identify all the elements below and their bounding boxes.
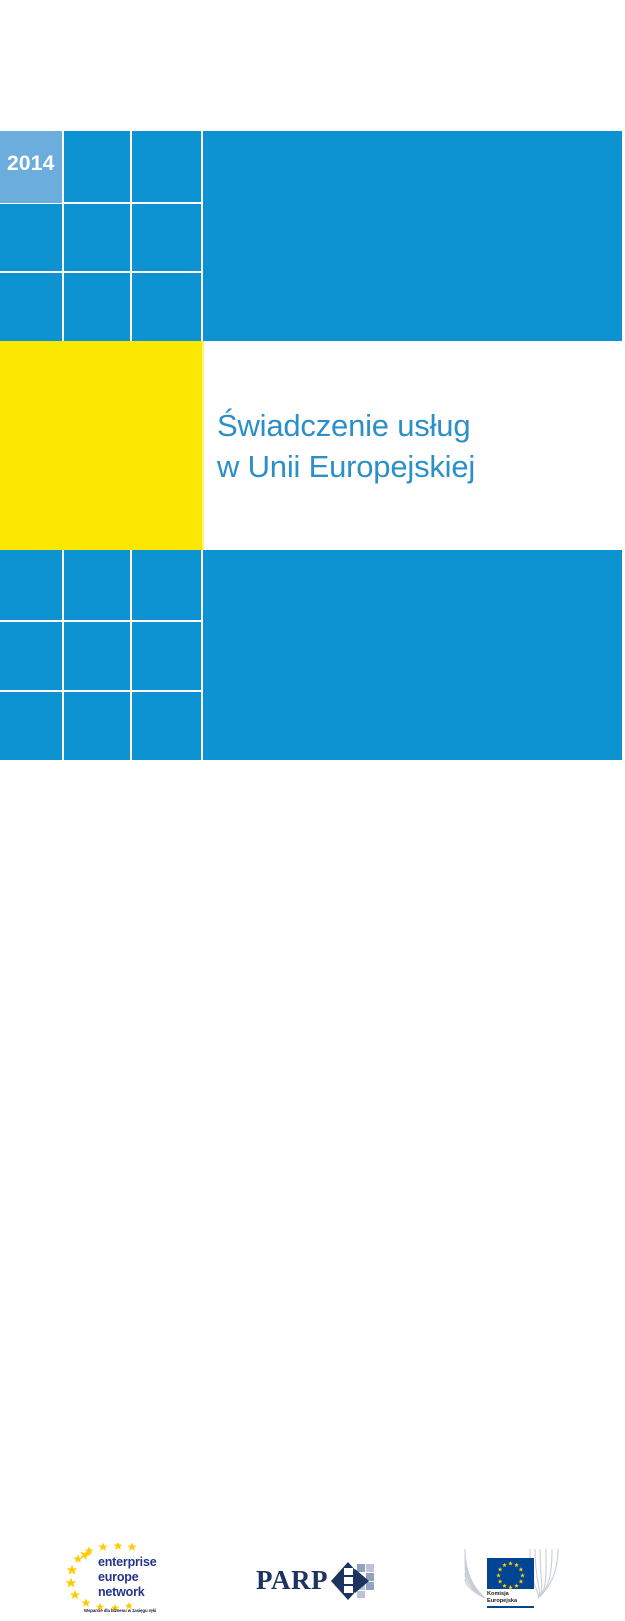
cover-page: 2014 Świadczenie usług w Unii Europejski…	[0, 0, 625, 898]
een-word-europe: europe	[98, 1570, 156, 1585]
grid-line-vertical	[62, 550, 64, 760]
grid-line-vertical	[62, 131, 64, 341]
year-label: 2014	[7, 153, 55, 174]
eu-flag-stars	[487, 1558, 534, 1589]
yellow-edge-line	[202, 341, 204, 550]
yellow-accent-block	[0, 341, 202, 550]
grid-line-horizontal	[0, 620, 203, 622]
enterprise-europe-network-logo: enterprise europe network Wsparcie dla b…	[62, 1543, 172, 1621]
grid-line-horizontal	[0, 271, 203, 273]
ec-underline	[487, 1606, 534, 1608]
parp-logo: PARP	[256, 1562, 374, 1602]
ec-word-europejska: Europejska	[487, 1598, 517, 1605]
grid-line-vertical	[201, 131, 203, 341]
parp-wordmark: PARP	[256, 1567, 328, 1594]
page-title-line-2: w Unii Europejskiej	[217, 446, 617, 487]
grid-line-vertical	[130, 131, 132, 341]
page-title: Świadczenie usług w Unii Europejskiej	[217, 405, 617, 487]
grid-line-vertical	[130, 550, 132, 760]
eu-flag-icon	[487, 1558, 534, 1589]
een-word-enterprise: enterprise	[98, 1555, 156, 1570]
ec-wordmark: Komisja Europejska	[487, 1591, 517, 1605]
european-commission-logo: Komisja Europejska	[463, 1546, 575, 1618]
grid-line-horizontal	[0, 690, 203, 692]
page-title-line-1: Świadczenie usług	[217, 405, 617, 446]
een-word-network: network	[98, 1585, 156, 1600]
parp-emblem-icon	[331, 1562, 375, 1600]
year-tile: 2014	[0, 131, 62, 203]
ec-word-komisja: Komisja	[487, 1591, 517, 1598]
een-tagline: Wsparcie dla biznesu w zasięgu ręki	[68, 1608, 172, 1613]
footer-logo-bar: enterprise europe network Wsparcie dla b…	[0, 760, 625, 898]
een-wordmark: enterprise europe network	[98, 1555, 156, 1599]
grid-line-vertical	[201, 550, 203, 760]
